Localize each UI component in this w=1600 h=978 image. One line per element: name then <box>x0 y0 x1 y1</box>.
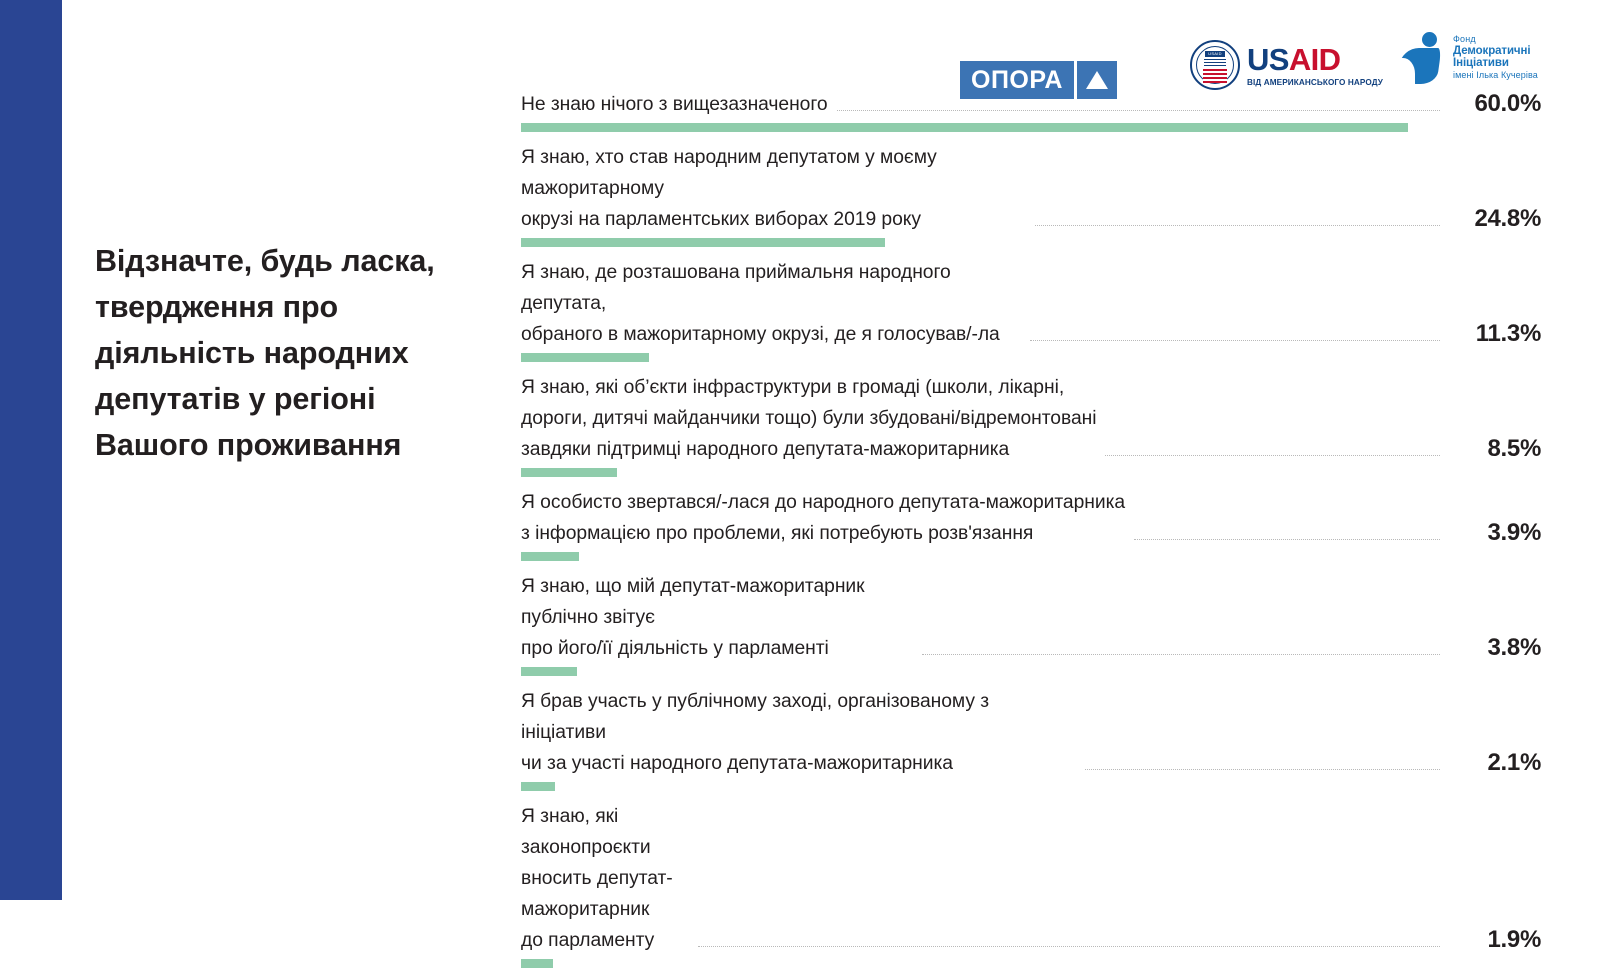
eagle-icon <box>1204 59 1226 68</box>
chart-row: Я знаю, що мій депутат-мажоритарник публ… <box>521 571 1541 686</box>
chart-row: Я знаю, де розташована приймальня народн… <box>521 257 1541 372</box>
chart-row-top: Я знаю, які законопроєкти вносить депута… <box>521 801 1541 956</box>
left-accent-stripe <box>0 0 62 900</box>
category-label: Я знаю, які об’єкти інфраструктури в гро… <box>521 372 1096 465</box>
usaid-us: US <box>1247 42 1289 77</box>
chart-row-top: Я брав участь у публічному заході, орган… <box>521 686 1541 779</box>
chart-row: Я знаю, які законопроєкти вносить депута… <box>521 801 1541 978</box>
chart-row-top: Не знаю нічого з вищезазначеного60.0% <box>521 88 1541 120</box>
dif-logo: Фонд Демократичні Ініціативи імені Ілька… <box>1395 28 1555 86</box>
chart-row: Я знаю, хто став народним депутатом у мо… <box>521 142 1541 257</box>
chart-row-top: Я знаю, хто став народним депутатом у мо… <box>521 142 1541 235</box>
category-label: Я знаю, де розташована приймальня народн… <box>521 257 1021 350</box>
leader-dots <box>1035 225 1440 226</box>
value-bar <box>521 123 1408 132</box>
chart-row: Я знаю, які об’єкти інфраструктури в гро… <box>521 372 1541 487</box>
leader-dots <box>698 946 1440 947</box>
value-bar <box>521 667 577 676</box>
dif-text: Фонд Демократичні Ініціативи імені Ілька… <box>1453 34 1555 80</box>
category-label: Я брав участь у публічному заході, орган… <box>521 686 1076 779</box>
usaid-text: USAID ВІД АМЕРИКАНСЬКОГО НАРОДУ <box>1247 44 1383 87</box>
chart-row-top: Я знаю, які об’єкти інфраструктури в гро… <box>521 372 1541 465</box>
flag-stripes-icon <box>1203 69 1227 83</box>
usaid-seal-icon: USAID <box>1190 40 1240 90</box>
value-label: 2.1% <box>1449 747 1541 779</box>
dif-i-mark-icon <box>1395 28 1447 86</box>
usaid-tagline: ВІД АМЕРИКАНСЬКОГО НАРОДУ <box>1247 78 1383 87</box>
seal-label: USAID <box>1205 51 1225 57</box>
value-label: 1.9% <box>1449 924 1541 956</box>
chart-row-top: Я знаю, де розташована приймальня народн… <box>521 257 1541 350</box>
value-label: 11.3% <box>1449 318 1541 350</box>
value-bar <box>521 782 555 791</box>
category-label: Я знаю, хто став народним депутатом у мо… <box>521 142 1026 235</box>
chart-row-top: Я знаю, що мій депутат-мажоритарник публ… <box>521 571 1541 664</box>
value-bar <box>521 353 649 362</box>
category-label: Я знаю, що мій депутат-мажоритарник публ… <box>521 571 913 664</box>
leader-dots <box>837 110 1440 111</box>
value-label: 3.9% <box>1449 517 1541 549</box>
category-label: Я особисто звертався/-лася до народного … <box>521 487 1125 549</box>
chart-row: Я особисто звертався/-лася до народного … <box>521 487 1541 571</box>
usaid-logo: USAID USAID ВІД АМЕРИКАНСЬКОГО НАРОДУ <box>1190 40 1383 90</box>
usaid-aid: AID <box>1289 42 1341 77</box>
value-label: 24.8% <box>1449 203 1541 235</box>
bar-chart: Не знаю нічого з вищезазначеного60.0%Я з… <box>521 88 1541 978</box>
value-bar <box>521 468 617 477</box>
chart-row: Я брав участь у публічному заході, орган… <box>521 686 1541 801</box>
leader-dots <box>1030 340 1440 341</box>
value-label: 60.0% <box>1449 88 1541 120</box>
leader-dots <box>1105 455 1440 456</box>
leader-dots <box>1085 769 1440 770</box>
usaid-wordmark: USAID <box>1247 44 1383 75</box>
dif-line-3: імені Ілька Кучеріва <box>1453 70 1555 80</box>
value-label: 8.5% <box>1449 433 1541 465</box>
value-label: 3.8% <box>1449 632 1541 664</box>
value-bar <box>521 959 553 968</box>
dif-dot <box>1422 32 1437 47</box>
value-bar <box>521 238 885 247</box>
chart-row-top: Я особисто звертався/-лася до народного … <box>521 487 1541 549</box>
leader-dots <box>922 654 1440 655</box>
leader-dots <box>1134 539 1440 540</box>
page-title: Відзначте, будь ласка, твердження про ді… <box>95 238 465 468</box>
chart-row: Не знаю нічого з вищезазначеного60.0% <box>521 88 1541 142</box>
dif-line-2: Демократичні Ініціативи <box>1453 45 1555 69</box>
category-label: Я знаю, які законопроєкти вносить депута… <box>521 801 689 956</box>
category-label: Не знаю нічого з вищезазначеного <box>521 89 828 120</box>
dif-line-1: Фонд <box>1453 34 1555 44</box>
value-bar <box>521 552 579 561</box>
logo-bar: ОПОРА USAID USAID ВІД АМЕРИКАНСЬКОГО НАР… <box>955 22 1555 92</box>
